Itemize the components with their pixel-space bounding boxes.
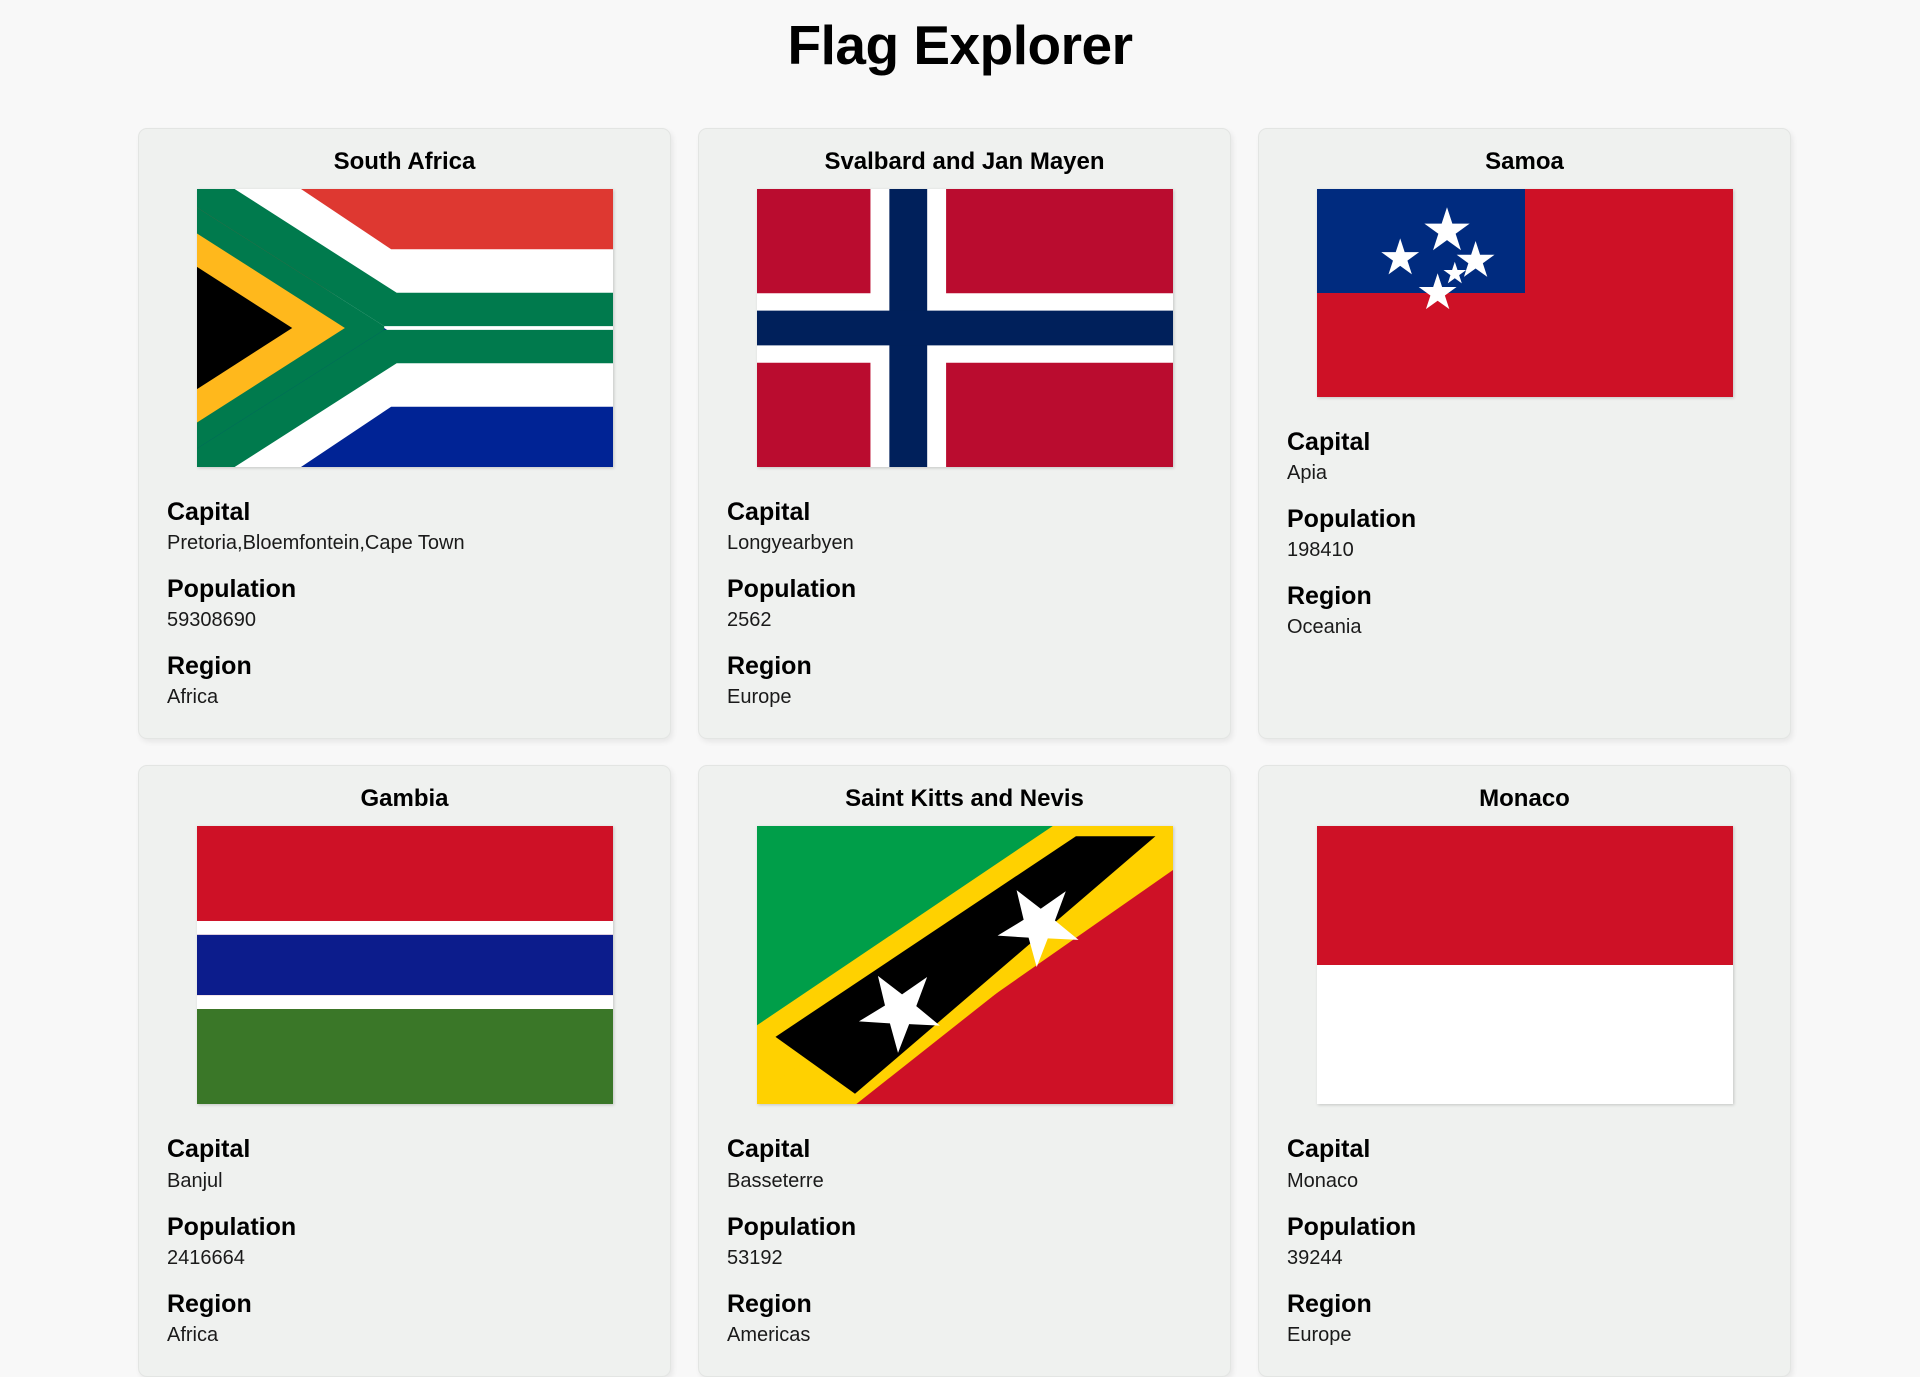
norway-flag (757, 189, 1173, 467)
field-region: Region Africa (167, 1289, 642, 1348)
field-value: Americas (727, 1322, 1202, 1348)
card-title: Samoa (1287, 147, 1762, 177)
flag-card[interactable]: Samoa Capital Apia (1258, 128, 1791, 740)
monaco-flag (1317, 826, 1733, 1104)
flag-explorer-page: Flag Explorer South Africa (0, 0, 1920, 1377)
field-label: Population (727, 574, 1202, 605)
flag-image-wrapper (1317, 826, 1733, 1104)
field-population: Population 59308690 (167, 574, 642, 633)
card-fields: Capital Apia Population 198410 Region Oc… (1287, 427, 1762, 641)
field-value: Pretoria,Bloemfontein,Cape Town (167, 530, 642, 556)
field-region: Region Europe (727, 651, 1202, 710)
field-label: Capital (1287, 1134, 1762, 1165)
card-fields: Capital Monaco Population 39244 Region E… (1287, 1134, 1762, 1348)
field-value: Basseterre (727, 1168, 1202, 1194)
flag-image-wrapper (757, 826, 1173, 1104)
field-value: 39244 (1287, 1245, 1762, 1271)
flag-card[interactable]: Saint Kitts and Nevis Capita (698, 765, 1231, 1377)
card-title: Saint Kitts and Nevis (727, 784, 1202, 814)
card-title: Gambia (167, 784, 642, 814)
field-value: Europe (727, 684, 1202, 710)
field-label: Population (1287, 1212, 1762, 1243)
flag-image-wrapper (197, 189, 613, 467)
samoa-flag (1317, 189, 1733, 397)
field-value: Longyearbyen (727, 530, 1202, 556)
field-label: Region (167, 651, 642, 682)
field-label: Population (727, 1212, 1202, 1243)
card-title: Svalbard and Jan Mayen (727, 147, 1202, 177)
flag-card[interactable]: Monaco Capital Monaco Population 39244 R… (1258, 765, 1791, 1377)
field-population: Population 53192 (727, 1212, 1202, 1271)
field-value: Oceania (1287, 614, 1762, 640)
flag-image-wrapper (197, 826, 613, 1104)
field-label: Region (727, 1289, 1202, 1320)
field-population: Population 198410 (1287, 504, 1762, 563)
card-fields: Capital Basseterre Population 53192 Regi… (727, 1134, 1202, 1348)
field-label: Region (727, 651, 1202, 682)
flag-image-wrapper (757, 189, 1173, 467)
card-title: Monaco (1287, 784, 1762, 814)
flag-image-wrapper (1317, 189, 1733, 397)
field-value: Apia (1287, 460, 1762, 486)
field-label: Region (1287, 581, 1762, 612)
field-capital: Capital Basseterre (727, 1134, 1202, 1193)
south-africa-flag (197, 189, 613, 467)
field-value: Africa (167, 1322, 642, 1348)
card-fields: Capital Banjul Population 2416664 Region… (167, 1134, 642, 1348)
flag-card-grid: South Africa Capital P (0, 128, 1920, 1377)
field-capital: Capital Monaco (1287, 1134, 1762, 1193)
field-label: Region (1287, 1289, 1762, 1320)
field-value: 2416664 (167, 1245, 642, 1271)
field-label: Population (167, 574, 642, 605)
field-label: Region (167, 1289, 642, 1320)
flag-card[interactable]: Svalbard and Jan Mayen Capital Longyearb… (698, 128, 1231, 740)
flag-card[interactable]: Gambia Capital Banjul Population 241666 (138, 765, 671, 1377)
field-capital: Capital Apia (1287, 427, 1762, 486)
field-value: 2562 (727, 607, 1202, 633)
field-value: Europe (1287, 1322, 1762, 1348)
field-population: Population 39244 (1287, 1212, 1762, 1271)
field-label: Population (167, 1212, 642, 1243)
field-capital: Capital Banjul (167, 1134, 642, 1193)
field-population: Population 2562 (727, 574, 1202, 633)
card-title: South Africa (167, 147, 642, 177)
card-fields: Capital Pretoria,Bloemfontein,Cape Town … (167, 497, 642, 711)
field-capital: Capital Pretoria,Bloemfontein,Cape Town (167, 497, 642, 556)
page-title: Flag Explorer (0, 0, 1920, 82)
saint-kitts-and-nevis-flag (757, 826, 1173, 1104)
field-region: Region Europe (1287, 1289, 1762, 1348)
field-label: Capital (727, 497, 1202, 528)
field-region: Region Oceania (1287, 581, 1762, 640)
field-label: Population (1287, 504, 1762, 535)
field-population: Population 2416664 (167, 1212, 642, 1271)
field-capital: Capital Longyearbyen (727, 497, 1202, 556)
field-value: 59308690 (167, 607, 642, 633)
field-region: Region Africa (167, 651, 642, 710)
field-value: 53192 (727, 1245, 1202, 1271)
field-label: Capital (727, 1134, 1202, 1165)
card-fields: Capital Longyearbyen Population 2562 Reg… (727, 497, 1202, 711)
field-label: Capital (167, 1134, 642, 1165)
field-value: Africa (167, 684, 642, 710)
field-value: Banjul (167, 1168, 642, 1194)
field-label: Capital (1287, 427, 1762, 458)
flag-card[interactable]: South Africa Capital P (138, 128, 671, 740)
field-region: Region Americas (727, 1289, 1202, 1348)
field-label: Capital (167, 497, 642, 528)
field-value: Monaco (1287, 1168, 1762, 1194)
gambia-flag (197, 826, 613, 1104)
field-value: 198410 (1287, 537, 1762, 563)
